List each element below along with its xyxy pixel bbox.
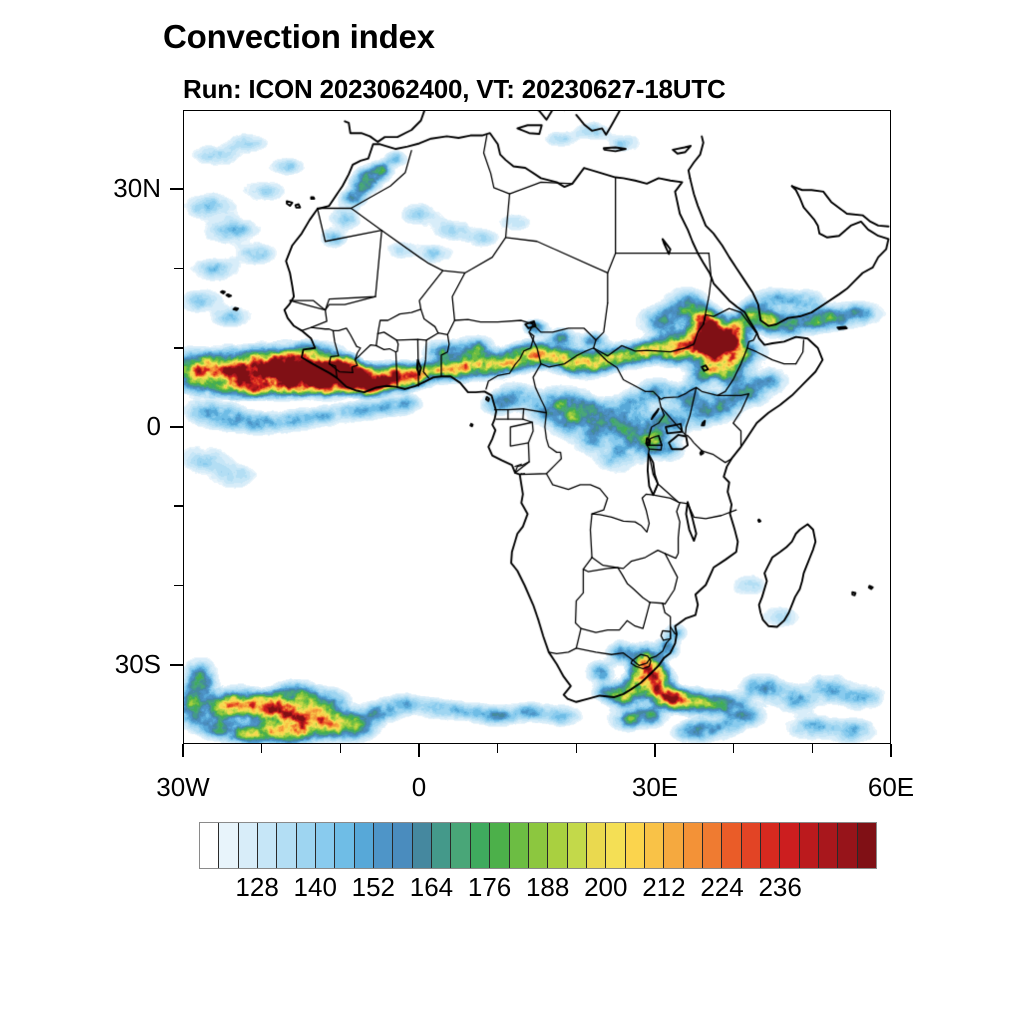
- y-axis-label-2: 30S: [0, 649, 161, 680]
- x-tick-10: [497, 744, 499, 753]
- colorbar-cell-0: [200, 823, 219, 868]
- colorbar-cell-6: [316, 823, 335, 868]
- colorbar-cell-31: [800, 823, 819, 868]
- colorbar-cell-2: [239, 823, 258, 868]
- colorbar-cell-21: [606, 823, 625, 868]
- colorbar-tick-labels: 128140152164176188200212224236: [0, 872, 1024, 912]
- y-tick-30: [170, 188, 183, 190]
- y-axis-label-1: 0: [0, 411, 161, 442]
- colorbar-cell-29: [761, 823, 780, 868]
- y-tick--10: [174, 505, 183, 507]
- colorbar-cell-27: [722, 823, 741, 868]
- colorbar-cell-19: [568, 823, 587, 868]
- colorbar-tick-188: 188: [526, 872, 569, 903]
- y-tick-10: [174, 347, 183, 349]
- y-tick-0: [170, 426, 183, 428]
- colorbar-tick-152: 152: [352, 872, 395, 903]
- colorbar-cell-20: [587, 823, 606, 868]
- colorbar-tick-140: 140: [294, 872, 337, 903]
- convection-index-map: [184, 111, 890, 743]
- x-tick--30: [182, 744, 184, 757]
- y-axis-label-0: 30N: [0, 173, 161, 204]
- colorbar-cell-28: [742, 823, 761, 868]
- colorbar-cell-24: [664, 823, 683, 868]
- colorbar-cell-16: [510, 823, 529, 868]
- colorbar-tick-176: 176: [468, 872, 511, 903]
- colorbar-cell-3: [258, 823, 277, 868]
- colorbar-tick-224: 224: [700, 872, 743, 903]
- page-subtitle: Run: ICON 2023062400, VT: 20230627-18UTC: [183, 74, 726, 105]
- colorbar-cell-14: [471, 823, 490, 868]
- colorbar-cell-15: [490, 823, 509, 868]
- y-tick--20: [174, 585, 183, 587]
- x-tick-40: [733, 744, 735, 753]
- colorbar-cell-11: [413, 823, 432, 868]
- colorbar-cell-13: [451, 823, 470, 868]
- colorbar-tick-212: 212: [642, 872, 685, 903]
- colorbar-cell-18: [548, 823, 567, 868]
- colorbar-cell-33: [838, 823, 857, 868]
- y-tick-20: [174, 268, 183, 270]
- colorbar-cell-32: [819, 823, 838, 868]
- colorbar-cell-12: [432, 823, 451, 868]
- colorbar-cell-17: [529, 823, 548, 868]
- x-tick-30: [654, 744, 656, 757]
- x-tick-20: [576, 744, 578, 753]
- x-axis-label-3: 60E: [868, 772, 914, 803]
- colorbar-tick-236: 236: [758, 872, 801, 903]
- x-tick-0: [418, 744, 420, 757]
- x-tick-50: [812, 744, 814, 753]
- colorbar-tick-200: 200: [584, 872, 627, 903]
- colorbar: [199, 822, 877, 869]
- x-tick-60: [890, 744, 892, 757]
- colorbar-cell-22: [626, 823, 645, 868]
- y-tick--30: [170, 664, 183, 666]
- x-tick--10: [340, 744, 342, 753]
- colorbar-tick-164: 164: [410, 872, 453, 903]
- colorbar-cell-8: [355, 823, 374, 868]
- colorbar-cell-30: [780, 823, 799, 868]
- colorbar-cell-23: [645, 823, 664, 868]
- colorbar-cell-9: [374, 823, 393, 868]
- colorbar-cell-1: [219, 823, 238, 868]
- x-axis-label-0: 30W: [156, 772, 209, 803]
- colorbar-cell-10: [393, 823, 412, 868]
- x-axis-label-1: 0: [412, 772, 426, 803]
- colorbar-cell-5: [297, 823, 316, 868]
- colorbar-cell-4: [277, 823, 296, 868]
- x-tick--20: [261, 744, 263, 753]
- x-axis-label-2: 30E: [632, 772, 678, 803]
- colorbar-cell-25: [684, 823, 703, 868]
- map-plot-area: [183, 110, 891, 744]
- page-title: Convection index: [163, 18, 435, 56]
- colorbar-cell-26: [703, 823, 722, 868]
- colorbar-tick-128: 128: [235, 872, 278, 903]
- colorbar-cell-34: [858, 823, 876, 868]
- colorbar-cell-7: [335, 823, 354, 868]
